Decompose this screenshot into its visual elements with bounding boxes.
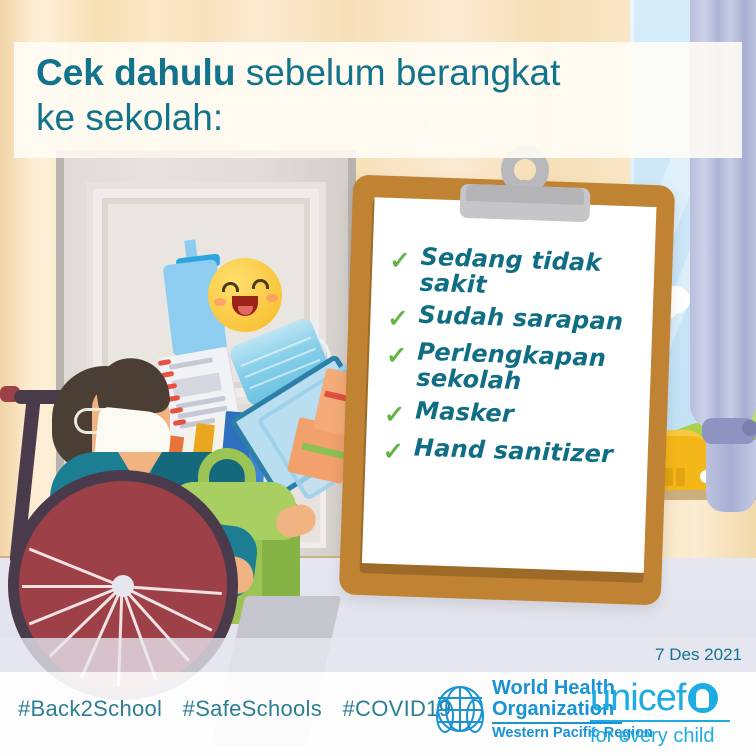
checklist-item[interactable]: ✓ Hand sanitizer: [382, 434, 641, 473]
footer-tint-band: [0, 638, 756, 672]
emoji-eye: [222, 282, 239, 292]
emblem-wreath-right: [466, 699, 484, 733]
emoji-eye: [252, 279, 269, 289]
checklist-item-label: Sudah sarapan: [418, 303, 624, 336]
checklist-item-label: Hand sanitizer: [413, 435, 613, 468]
curtain-tail: [706, 440, 756, 512]
unicef-divider: [590, 720, 730, 722]
wheel-spoke: [22, 585, 122, 588]
check-icon: ✓: [389, 244, 421, 275]
checklist-item[interactable]: ✓ Sedang tidak sakit: [388, 244, 648, 304]
page-title-rest: sebelum berangkat: [235, 52, 560, 93]
check-icon: ✓: [386, 339, 418, 370]
bus-window: [664, 468, 673, 486]
checklist-item-label: Masker: [415, 398, 515, 427]
unicef-logo: unicef for every child: [590, 680, 730, 748]
checklist: ✓ Sedang tidak sakit ✓ Sudah sarapan ✓ P…: [382, 244, 648, 481]
emoji-blush: [266, 294, 278, 302]
unicef-globe-icon: [688, 683, 718, 713]
check-icon: ✓: [387, 302, 419, 333]
notebook-line: [169, 357, 213, 370]
emoji-blush: [214, 298, 226, 306]
page-title-bold: Cek dahulu: [36, 52, 235, 93]
unicef-wordmark-row: unicef: [590, 680, 730, 716]
page-title-line2: ke sekolah:: [36, 97, 223, 138]
checklist-item[interactable]: ✓ Perlengkapan sekolah: [385, 339, 645, 399]
notebook-image: [172, 372, 222, 398]
date-label: 7 Des 2021: [655, 645, 742, 665]
unicef-tagline: for every child: [590, 725, 730, 748]
checklist-item-label: Perlengkapan sekolah: [416, 340, 645, 399]
checklist-item-label: Sedang tidak sakit: [419, 245, 648, 304]
check-icon: ✓: [384, 397, 416, 428]
page-title: Cek dahulu sebelum berangkat ke sekolah:: [36, 50, 742, 140]
checklist-item[interactable]: ✓ Masker: [384, 397, 643, 436]
bus-window: [676, 468, 685, 486]
poster-canvas: ✓ Sedang tidak sakit ✓ Sudah sarapan ✓ P…: [0, 0, 756, 756]
check-icon: ✓: [382, 434, 414, 465]
hashtag-back2school[interactable]: #Back2School: [18, 696, 162, 721]
curtain-knot: [742, 420, 756, 436]
unicef-wordmark: unicef: [590, 680, 685, 716]
hashtag-list: #Back2School #SafeSchools #COVID19: [18, 696, 465, 722]
hashtag-safeschools[interactable]: #SafeSchools: [183, 696, 322, 721]
who-emblem-icon: [434, 683, 486, 735]
wheel-hub: [112, 575, 134, 597]
checklist-item[interactable]: ✓ Sudah sarapan: [387, 302, 646, 341]
